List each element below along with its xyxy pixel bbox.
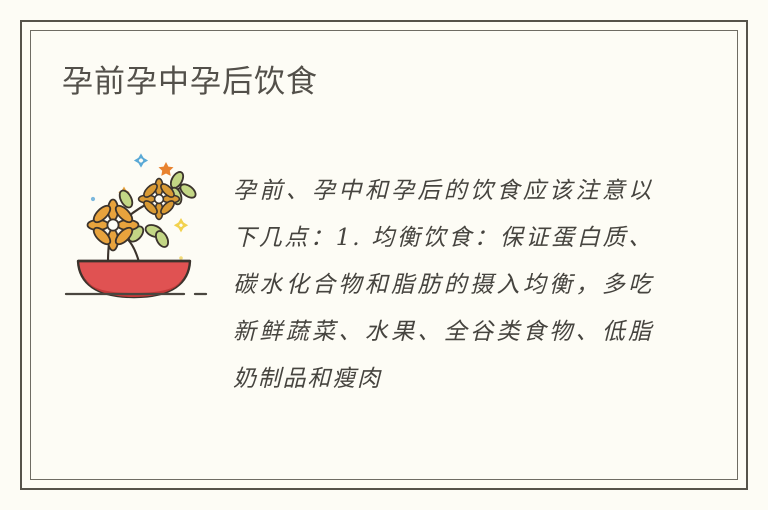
- article-body: 孕前、孕中和孕后的饮食应该注意以下几点：1. 均衡饮食：保证蛋白质、碳水化合物和…: [233, 168, 653, 403]
- potted-flowers-illustration: [62, 140, 212, 310]
- sparkle-orange-icon: [159, 162, 174, 176]
- potted-flowers-svg: [62, 140, 212, 310]
- flower-pot: [78, 261, 190, 297]
- sparkle-yellow-icon: [176, 220, 186, 230]
- page-title: 孕前孕中孕后饮食: [62, 62, 318, 102]
- sparkle-blue-icon: [136, 155, 147, 166]
- article-card: 孕前孕中孕后饮食: [0, 0, 768, 510]
- sparkle-blue-small-icon: [91, 197, 95, 201]
